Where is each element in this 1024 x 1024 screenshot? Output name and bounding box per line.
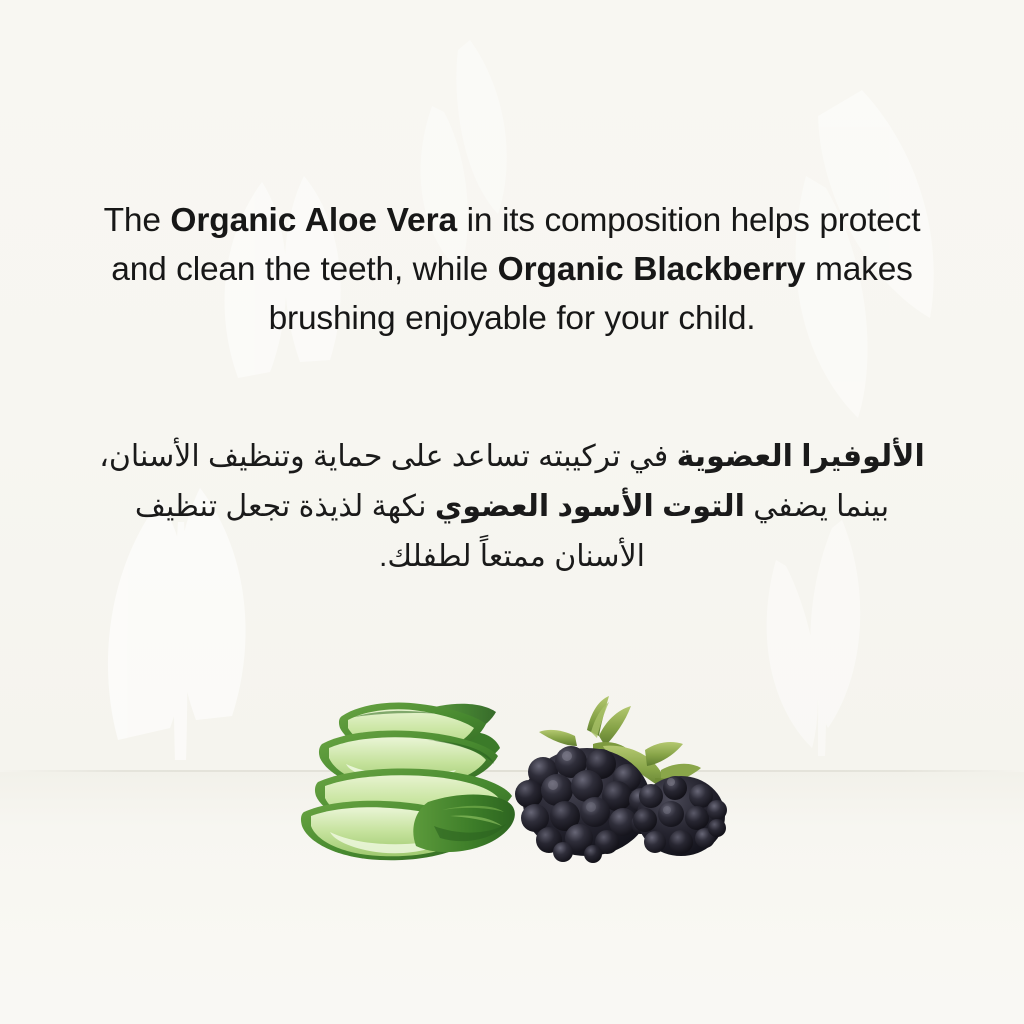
blackberry-small (633, 776, 727, 856)
highlight-organic-aloe-vera: Organic Aloe Vera (170, 202, 457, 239)
arabic-body: الألوفيرا العضوية في تركيبته تساعد على ح… (99, 440, 925, 573)
english-description: The Organic Aloe Vera in its composition… (92, 196, 932, 343)
english-line-1: The Organic Aloe Vera in its composition… (104, 202, 921, 337)
background-upper (0, 0, 1024, 772)
aloe-vera-icon (301, 703, 515, 861)
highlight-organic-blackberry: Organic Blackberry (498, 251, 806, 288)
ingredient-illustration (300, 686, 730, 866)
highlight-blackberry-ar: التوت الأسود العضوي (435, 490, 745, 523)
promo-card: The Organic Aloe Vera in its composition… (0, 0, 1024, 1024)
blackberry-icon (515, 696, 727, 863)
arabic-description: الألوفيرا العضوية في تركيبته تساعد على ح… (92, 432, 932, 582)
highlight-aloe-vera-ar: الألوفيرا العضوية (677, 440, 925, 473)
